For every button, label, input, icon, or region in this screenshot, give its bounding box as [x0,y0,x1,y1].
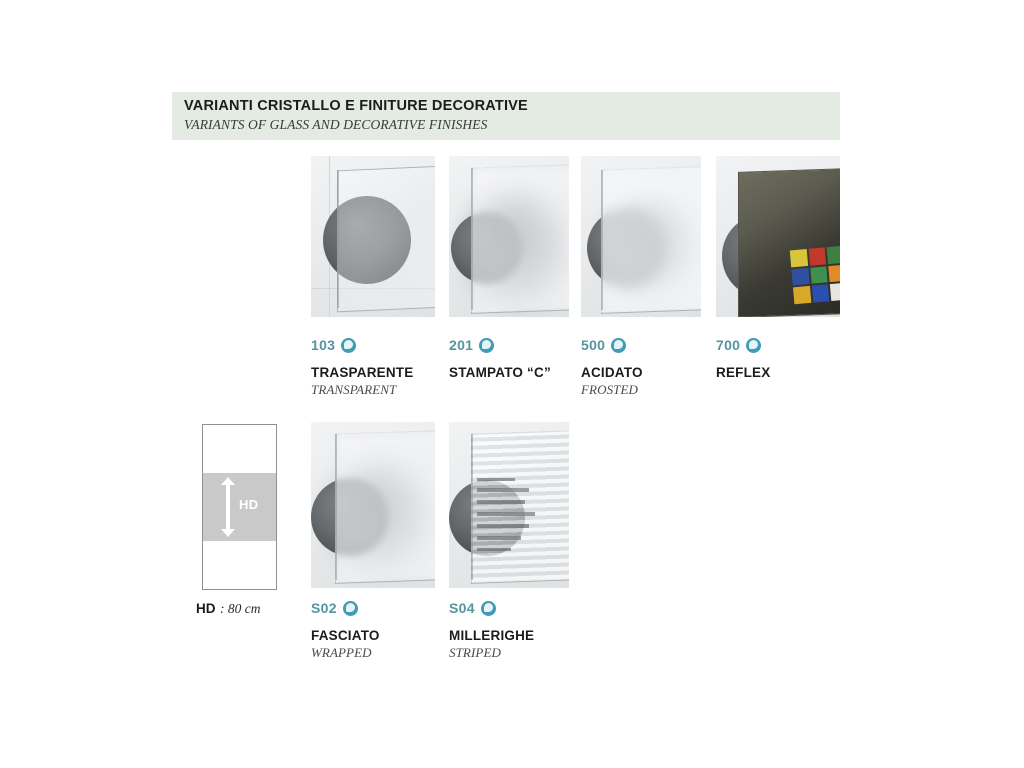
color-checker-chart [790,246,840,305]
product-caption-stampato-c: 201 STAMPATO “C” [449,336,599,382]
photo-reflex-glass [716,156,840,317]
catalog-page: VARIANTI CRISTALLO E FINITURE DECORATIVE… [0,0,1024,768]
hd-caption-key: HD [196,601,216,616]
glass-edge [601,170,603,310]
product-name-it: MILLERIGHE [449,628,599,643]
code-row: 700 [716,336,866,354]
photo-wrapped-glass [311,422,435,588]
refracted-band [477,478,515,481]
product-caption-millerighe: S04 MILLERIGHE STRIPED [449,599,599,661]
product-name-it: ACIDATO [581,365,731,380]
photo-striped-glass [449,422,569,588]
refracted-band [477,524,529,528]
product-image-millerighe [449,422,569,588]
photo-frosted-glass [581,156,701,317]
glass-edge [471,434,473,580]
refracted-band [477,536,521,540]
color-swatch [829,264,840,282]
code-row: 500 [581,336,731,354]
product-name-en: FROSTED [581,382,731,398]
texture-overlay [471,164,569,312]
product-caption-acidato: 500 ACIDATO FROSTED [581,336,731,398]
gloss-circle-icon [611,338,626,353]
color-swatch [830,283,840,301]
gloss-circle-icon [481,601,496,616]
code-row: 201 [449,336,599,354]
hd-dimension-diagram: HD [202,424,277,590]
acid-etch-overlay [601,166,701,312]
gloss-circle-icon [479,338,494,353]
product-image-reflex [716,156,840,317]
color-swatch [793,286,811,304]
wrap-texture-overlay [335,430,435,582]
glass-sample [337,166,435,313]
color-swatch [827,246,840,264]
product-name-it: STAMPATO “C” [449,365,599,380]
gloss-circle-icon [343,601,358,616]
product-image-stampato-c [449,156,569,317]
product-image-acidato [581,156,701,317]
product-code: 201 [449,336,473,354]
color-swatch [790,249,808,267]
product-caption-fasciato: S02 FASCIATO WRAPPED [311,599,461,661]
refracted-band [477,500,525,504]
product-name-it: TRASPARENTE [311,365,461,380]
code-row: S04 [449,599,599,617]
page-subtitle: VARIANTS OF GLASS AND DECORATIVE FINISHE… [184,117,487,133]
stripe-texture-overlay [471,430,569,582]
refracted-band [477,548,511,551]
product-code: 500 [581,336,605,354]
product-caption-trasparente: 103 TRASPARENTE TRANSPARENT [311,336,461,398]
photo-transparent-glass [311,156,435,317]
product-code: S04 [449,599,475,617]
hd-double-arrow-icon [221,477,235,537]
product-image-trasparente [311,156,435,317]
color-swatch [810,266,828,284]
product-code: 103 [311,336,335,354]
product-code: S02 [311,599,337,617]
code-row: 103 [311,336,461,354]
code-row: S02 [311,599,461,617]
product-name-it: REFLEX [716,365,866,380]
glass-edge [337,170,339,308]
product-name-it: FASCIATO [311,628,461,643]
product-code: 700 [716,336,740,354]
product-image-fasciato [311,422,435,588]
glass-edge [335,434,337,580]
color-swatch [808,247,826,265]
color-swatch [812,285,830,303]
product-name-en: TRANSPARENT [311,382,461,398]
product-name-en: WRAPPED [311,645,461,661]
hd-caption-value: : 80 cm [220,601,261,616]
refracted-band [477,488,529,492]
hd-inner-label: HD [239,497,259,512]
color-swatch [791,268,809,286]
page-title: VARIANTI CRISTALLO E FINITURE DECORATIVE [184,98,528,114]
section-header-band: VARIANTI CRISTALLO E FINITURE DECORATIVE… [172,92,840,140]
product-caption-reflex: 700 REFLEX [716,336,866,382]
product-name-en: STRIPED [449,645,599,661]
gloss-circle-icon [341,338,356,353]
photo-patterned-glass [449,156,569,317]
gloss-circle-icon [746,338,761,353]
refracted-band [477,512,535,516]
glass-edge [471,168,473,310]
